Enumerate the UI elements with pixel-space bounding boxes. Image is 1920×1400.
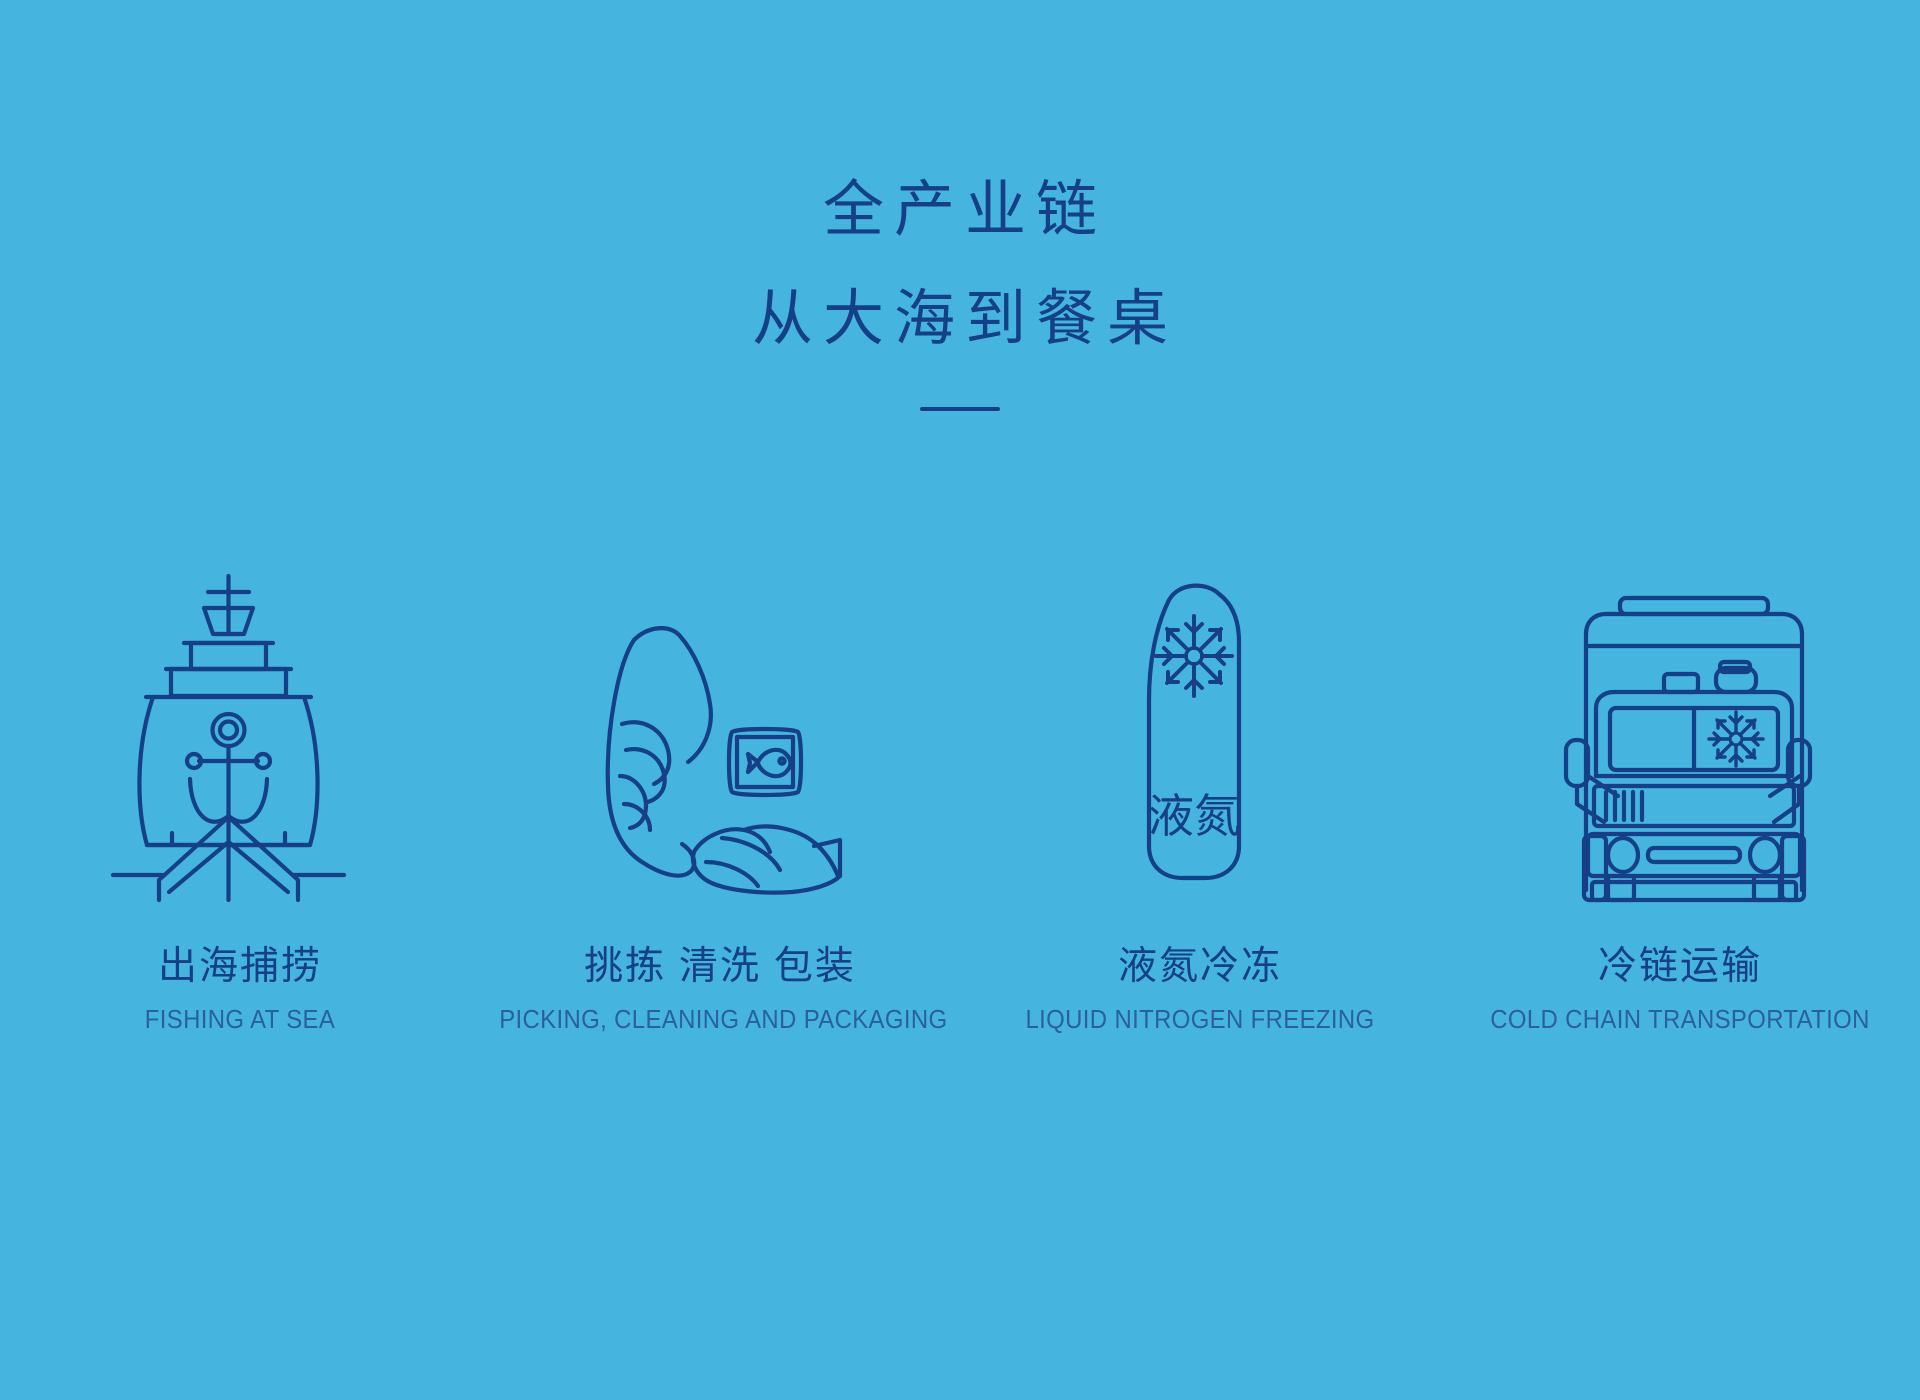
step-4-labels: 冷链运输 COLD CHAIN TRANSPORTATION (1440, 944, 1920, 1035)
tank-label-text: 液氮 (1148, 790, 1240, 842)
lower-hand-icon (693, 826, 840, 892)
step-cold-chain-transportation: 冷链运输 COLD CHAIN TRANSPORTATION (1440, 500, 1920, 1035)
step-4-label-en: COLD CHAIN TRANSPORTATION (1459, 1004, 1901, 1035)
hands-packaged-fish-icon (598, 600, 858, 900)
upper-hand-icon (608, 628, 711, 876)
snowflake-icon (1709, 712, 1763, 766)
hands-packaged-fish-icon-box (488, 500, 968, 900)
title-divider (920, 407, 1000, 411)
step-2-label-cn: 挑拣 清洗 包装 (480, 944, 960, 990)
packaged-fish-icon (729, 729, 801, 795)
step-fishing-at-sea: 出海捕捞 FISHING AT SEA (0, 500, 480, 1035)
refrigerated-truck-icon (1564, 590, 1824, 900)
step-liquid-nitrogen-freezing: 液氮 液氮冷冻 LIQUID NITROGEN FREEZING (960, 500, 1440, 1035)
fishing-boat-icon-box (0, 500, 468, 900)
full-industry-chain-infographic: 全产业链 从大海到餐桌 (0, 0, 1920, 1400)
snowflake-icon (1156, 616, 1232, 696)
process-steps-row: 出海捕捞 FISHING AT SEA (0, 500, 1920, 1035)
liquid-nitrogen-tank-icon: 液氮 (1129, 570, 1259, 900)
step-4-label-cn: 冷链运输 (1440, 944, 1920, 990)
title-divider-wrap (0, 407, 1920, 411)
fishing-boat-icon (111, 570, 346, 900)
step-2-label-en: PICKING, CLEANING AND PACKAGING (499, 1004, 941, 1035)
step-1-label-cn: 出海捕捞 (0, 944, 480, 990)
refrigerated-truck-icon-box (1454, 500, 1920, 900)
step-2-labels: 挑拣 清洗 包装 PICKING, CLEANING AND PACKAGING (480, 944, 960, 1035)
step-3-label-cn: 液氮冷冻 (960, 944, 1440, 990)
step-1-labels: 出海捕捞 FISHING AT SEA (0, 944, 480, 1035)
step-3-label-en: LIQUID NITROGEN FREEZING (979, 1004, 1421, 1035)
step-1-label-en: FISHING AT SEA (19, 1004, 461, 1035)
step-picking-cleaning-packaging: 挑拣 清洗 包装 PICKING, CLEANING AND PACKAGING (480, 500, 960, 1035)
page-header: 全产业链 从大海到餐桌 (0, 168, 1920, 411)
page-title-line-1: 全产业链 (0, 168, 1920, 255)
step-3-labels: 液氮冷冻 LIQUID NITROGEN FREEZING (960, 944, 1440, 1035)
liquid-nitrogen-tank-icon-box: 液氮 (954, 500, 1434, 900)
page-title-line-2: 从大海到餐桌 (0, 277, 1920, 364)
